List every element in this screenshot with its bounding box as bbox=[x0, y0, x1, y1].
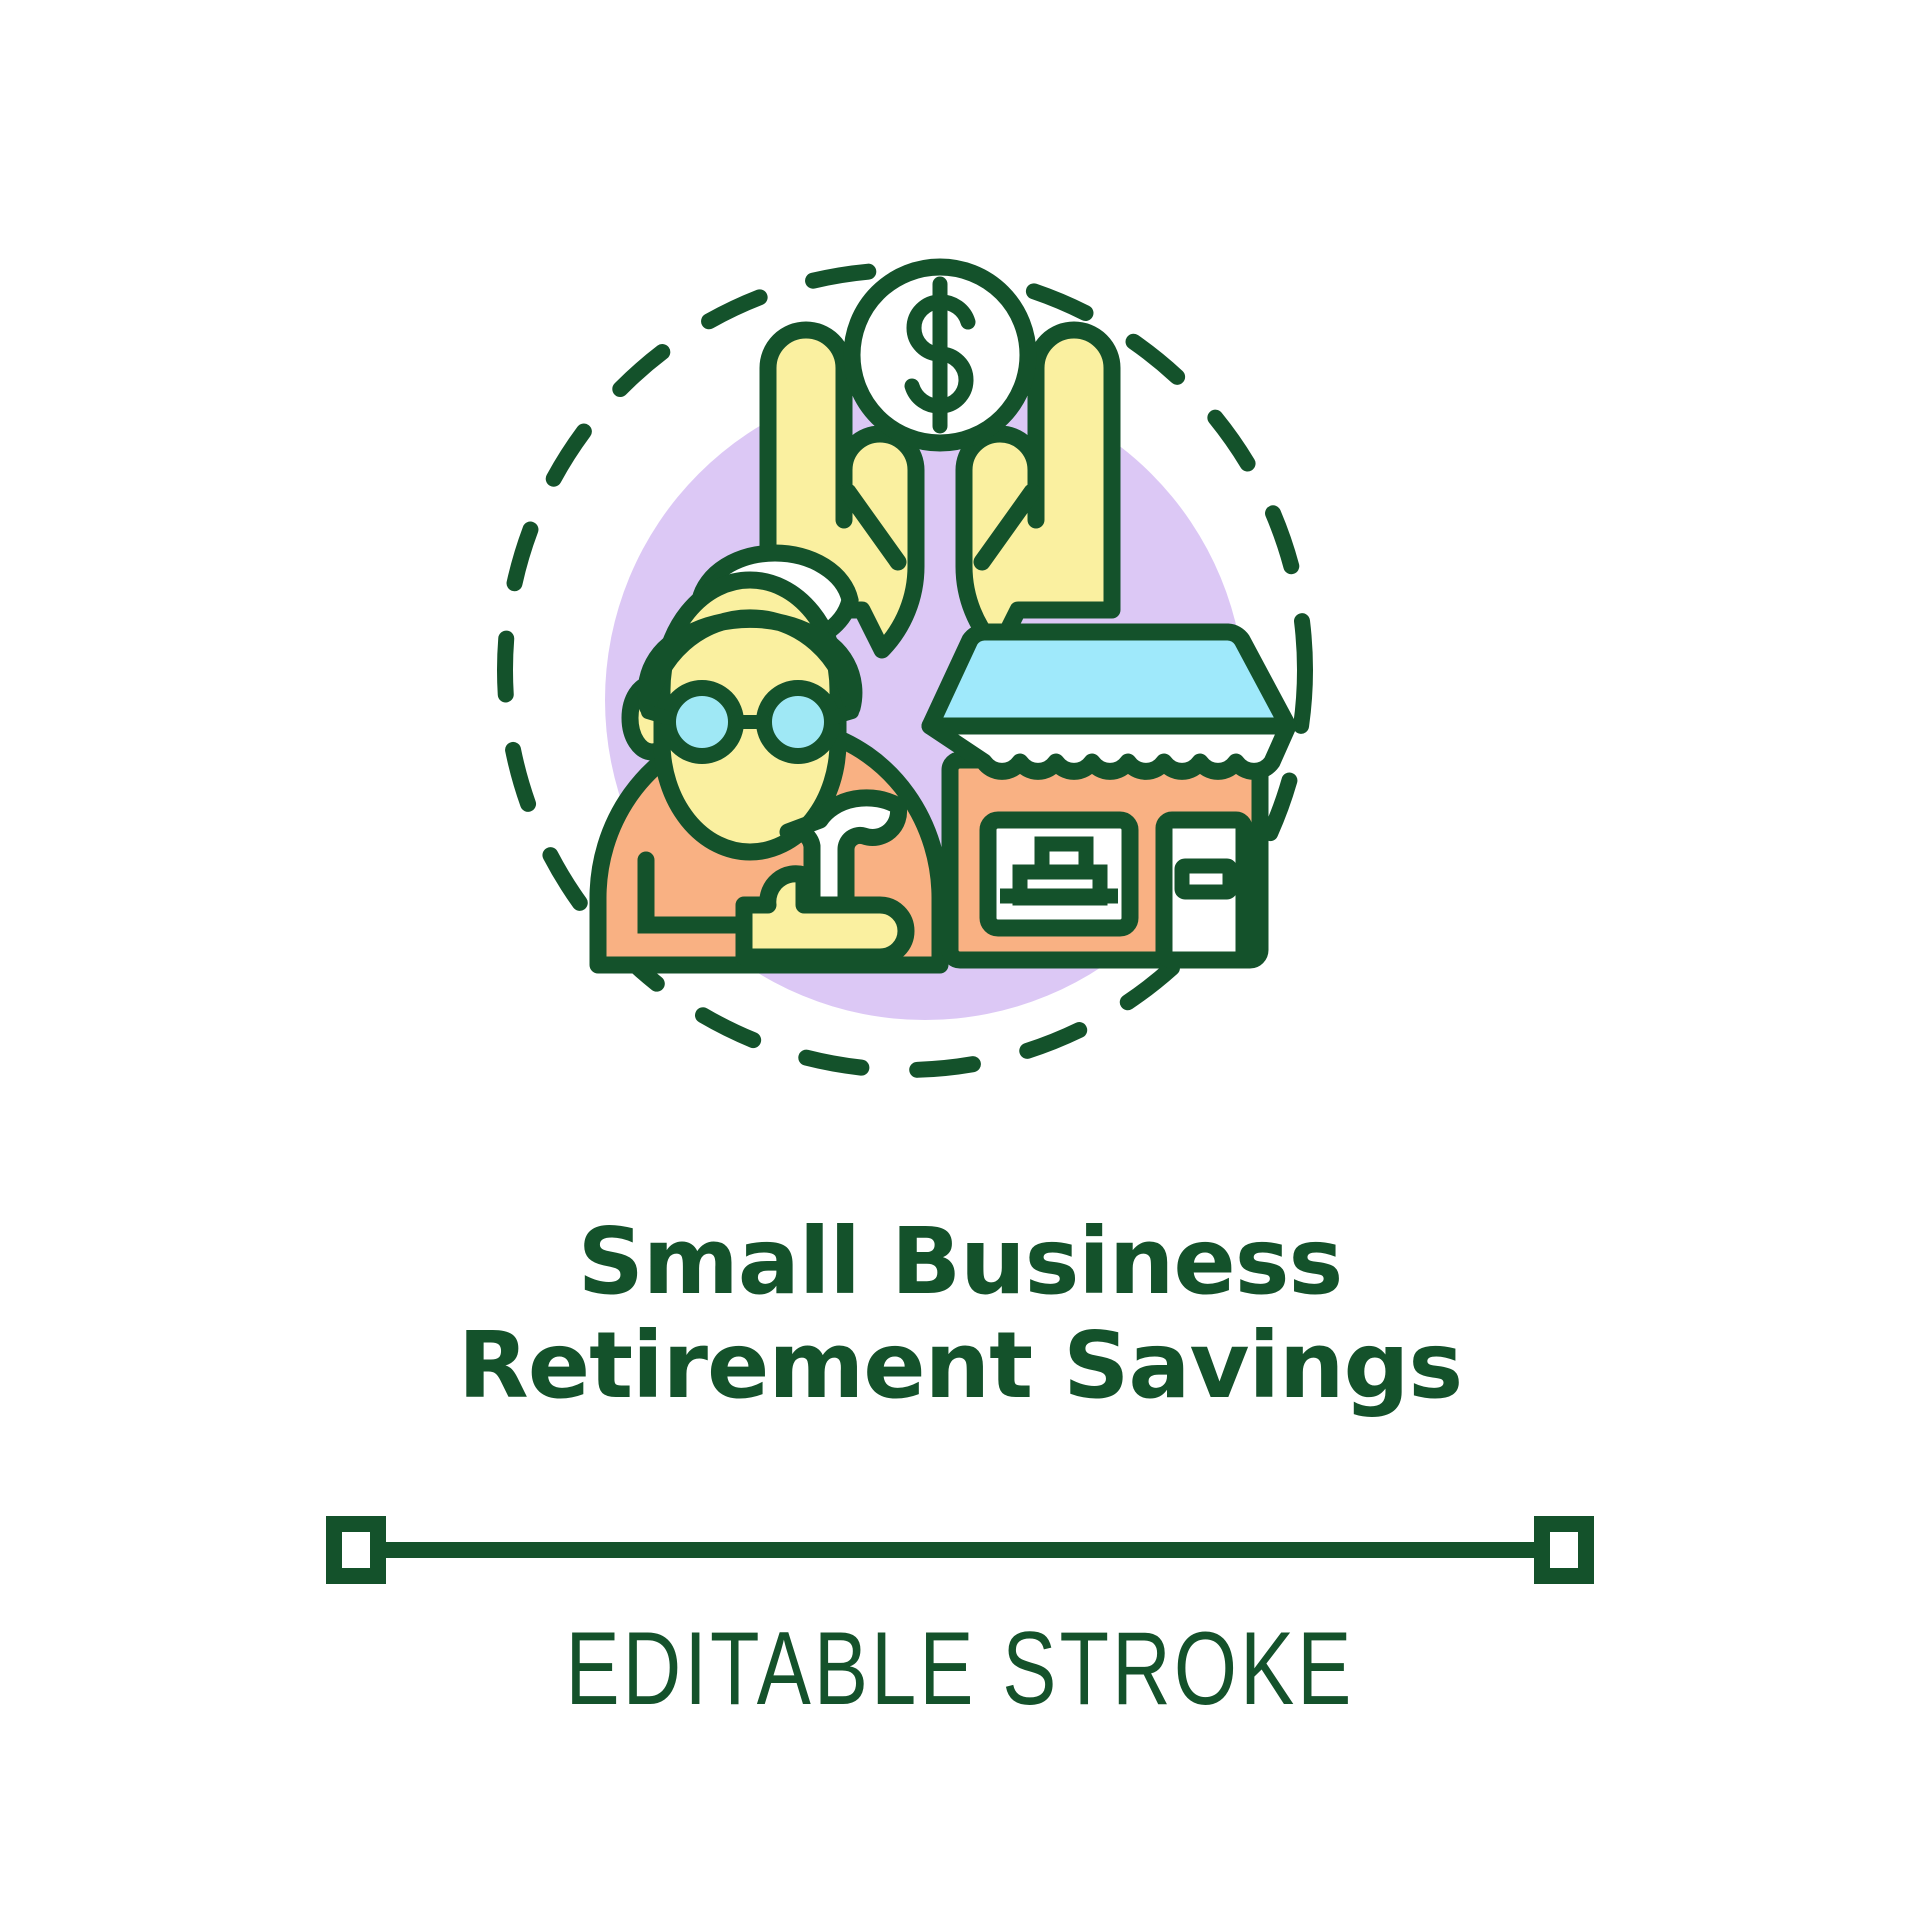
title-line-2: Retirement Savings bbox=[0, 1314, 1920, 1418]
glasses-left-temple bbox=[648, 712, 668, 718]
concept-title: Small Business Retirement Savings bbox=[0, 1210, 1920, 1418]
left-lens bbox=[668, 688, 736, 756]
glasses-right-temple bbox=[832, 712, 852, 718]
concept-illustration-svg bbox=[0, 0, 1920, 1200]
shop-roof bbox=[930, 632, 1288, 726]
stroke-bar-handle-left bbox=[334, 1524, 378, 1576]
shop-door-window bbox=[1182, 866, 1230, 892]
title-line-1: Small Business bbox=[0, 1210, 1920, 1314]
stroke-width-bar bbox=[0, 1490, 1920, 1610]
concept-icon-page: Small Business Retirement Savings EDITAB… bbox=[0, 0, 1920, 1920]
editable-stroke-label: EDITABLE STROKE bbox=[211, 1610, 1709, 1729]
stroke-bar-svg bbox=[0, 1490, 1920, 1610]
stroke-bar-handle-right bbox=[1542, 1524, 1586, 1576]
right-lens bbox=[764, 688, 832, 756]
shop-awning bbox=[930, 726, 1288, 771]
illustration-area bbox=[0, 0, 1920, 1200]
